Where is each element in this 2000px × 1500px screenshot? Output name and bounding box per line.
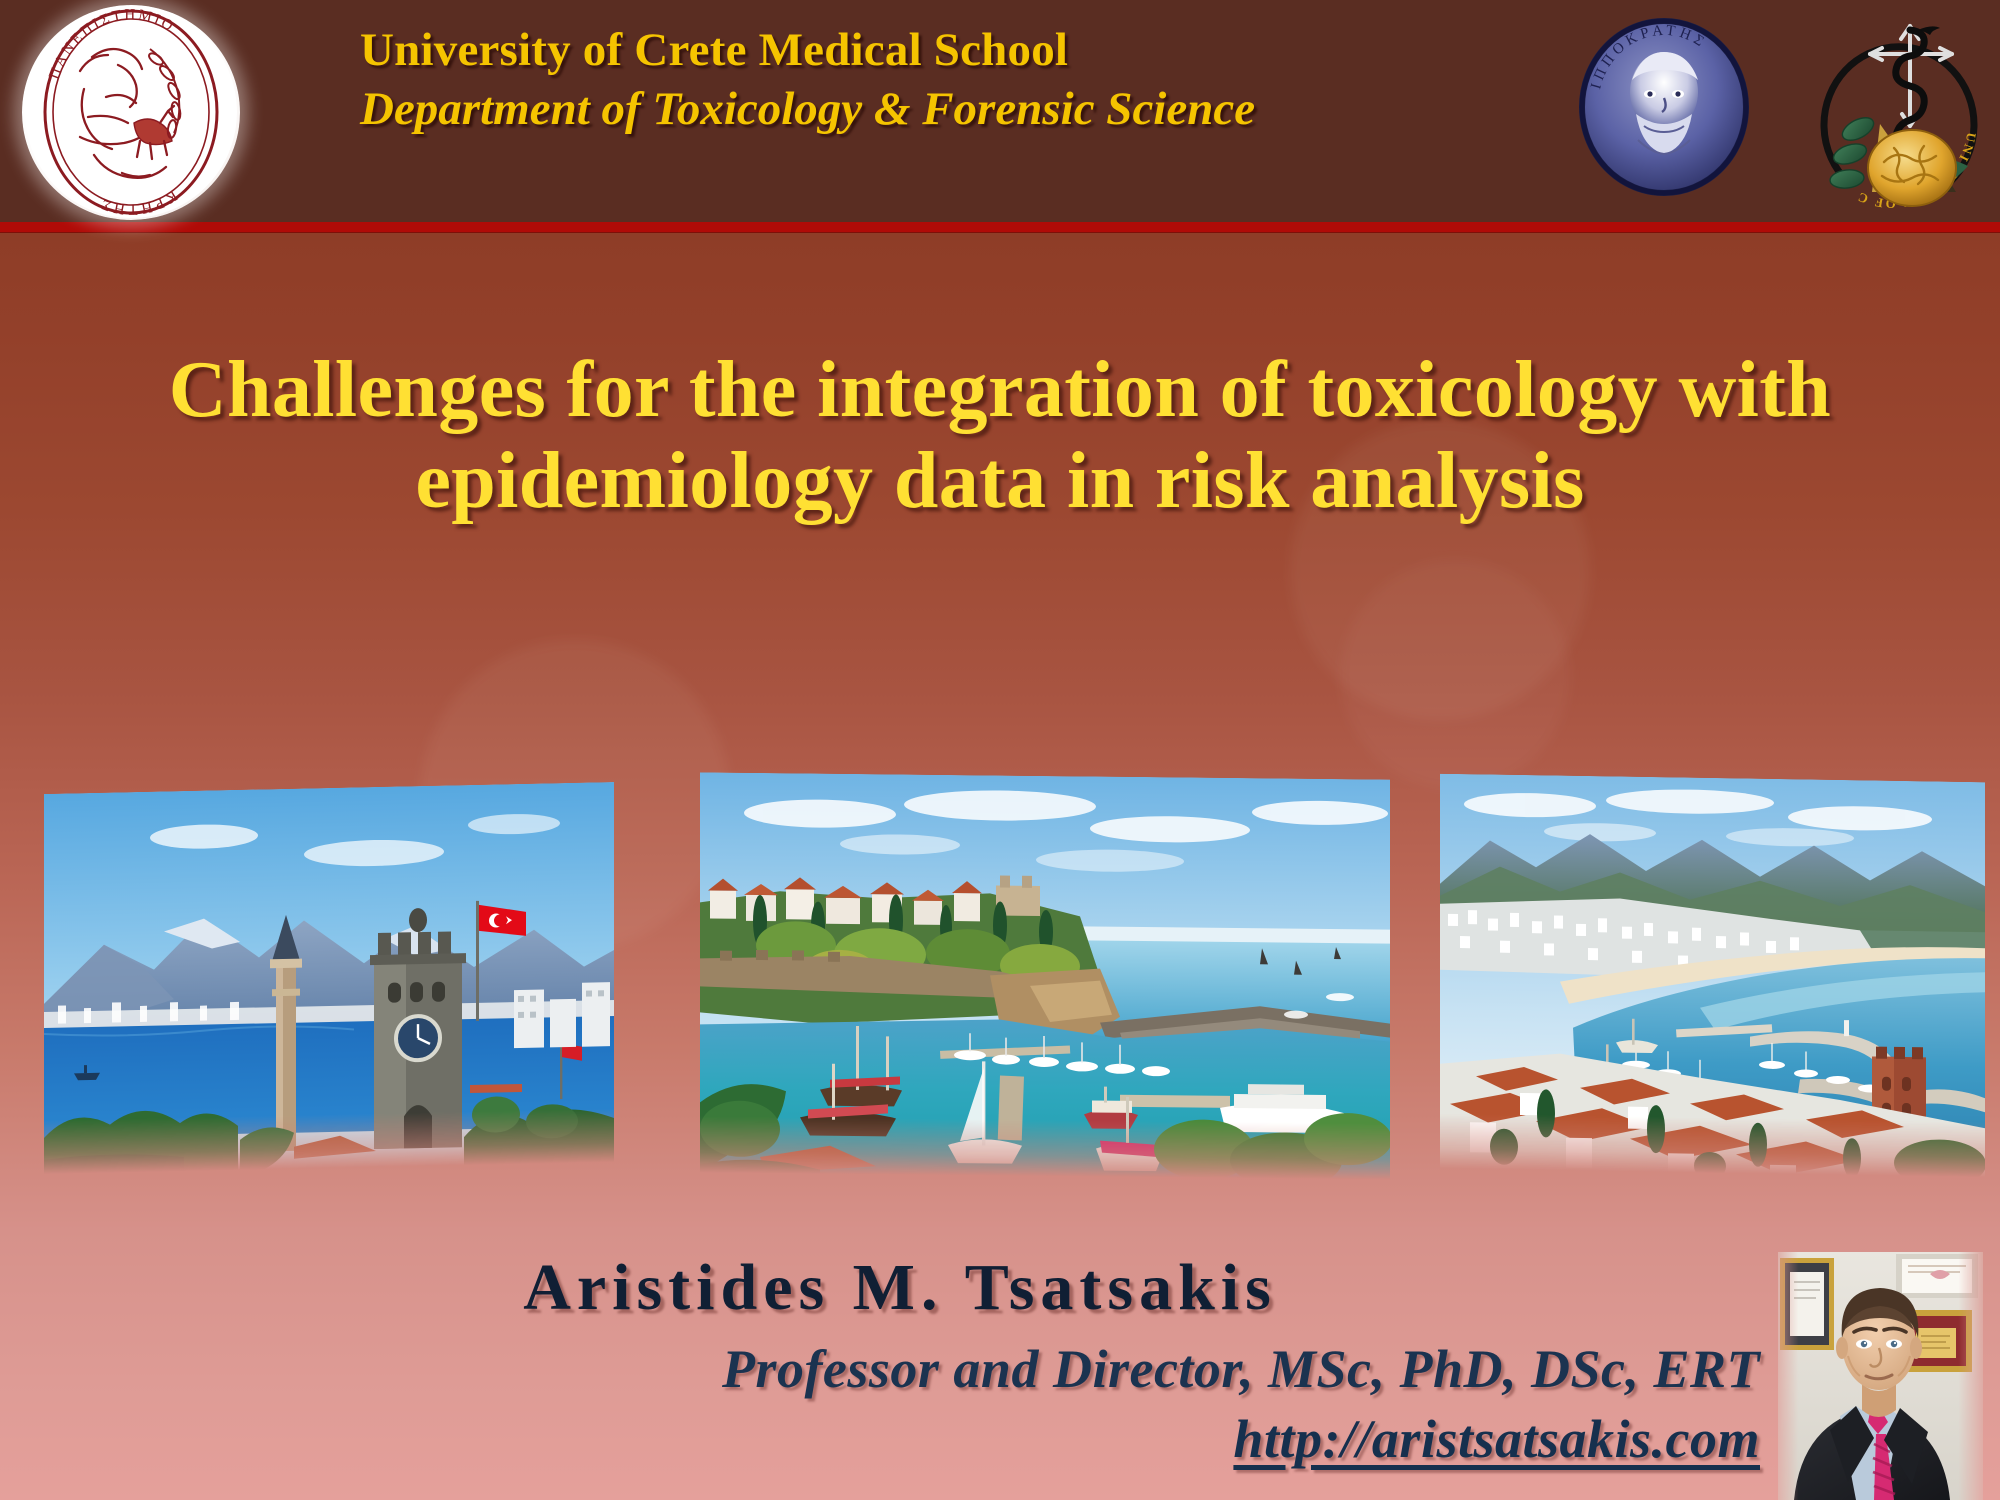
presentation-slide: ΠΑΝΕΠΙΣΤΗΜΙΟ ΚΡΗΤΗΣ [0,0,2000,1500]
antalya-old-harbor-photo [700,772,1390,1179]
medical-school-emblem-icon: UNIVERSITY OF CRETE [1800,0,1995,208]
author-website-link[interactable]: http://aristsatsakis.com [120,1408,1760,1470]
header-title-block: University of Crete Medical School Depar… [360,24,1540,135]
author-name: Aristides M. Tsatsakis [120,1250,1680,1326]
author-portrait-photo [1778,1252,1983,1500]
header-department-line: Department of Toxicology & Forensic Scie… [360,83,1540,136]
background-bokeh-circle-right-inner [1340,560,1570,790]
page-title-line-1: Challenges for the integration of toxico… [70,345,1930,436]
header-university-line: University of Crete Medical School [360,24,1540,77]
page-title: Challenges for the integration of toxico… [70,345,1930,527]
hippocrates-coin-icon: ΙΠΠΟΚΡΑΤΗΣ [1568,14,1760,200]
alanya-bay-photo [1440,774,1985,1178]
page-title-line-2: epidemiology data in risk analysis [70,436,1930,527]
university-of-crete-seal-icon: ΠΑΝΕΠΙΣΤΗΜΙΟ ΚΡΗΤΗΣ [22,5,240,220]
header-divider-rule [0,222,2000,232]
antalya-clock-tower-photo [44,782,614,1174]
author-role: Professor and Director, MSc, PhD, DSc, E… [120,1338,1760,1400]
photo-triptych [0,760,2000,1190]
